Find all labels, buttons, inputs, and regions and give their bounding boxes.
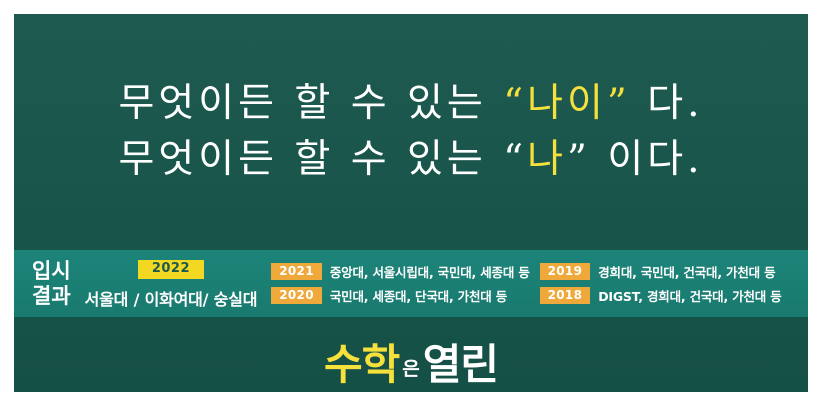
results-bar-label-line-2: 결과 (32, 284, 71, 309)
headline: 무엇이든 할 수 있는 “나이” 다. 무엇이든 할 수 있는 “나” 이다. (14, 76, 808, 188)
universities-2020: 국민대, 세종대, 단국대, 가천대 등 (330, 286, 507, 305)
results-column-right: 2019 경희대, 국민대, 건국대, 가천대 등 2018 DIGST, 경희… (540, 262, 782, 305)
result-row: 2021 중앙대, 서울시립대, 국민대, 세종대 등 (271, 262, 529, 281)
brand-logo-part-1: 수학 (324, 340, 399, 389)
headline-line-1-suffix: 다. (631, 81, 704, 126)
results-bar-label: 입시 결과 (32, 259, 71, 309)
year-badge-2020: 2020 (271, 287, 322, 304)
headline-line-1-quote-open: “ (503, 81, 527, 126)
headline-line-2-accent: 나 (527, 137, 567, 182)
headline-line-2-quote-open: “ (503, 137, 527, 182)
headline-line-2-suffix: 이다. (591, 137, 704, 182)
headline-line-1: 무엇이든 할 수 있는 “나이” 다. (14, 76, 808, 132)
universities-2018: DIGST, 경희대, 건국대, 가천대 등 (598, 286, 781, 305)
year-badge-2022: 2022 (138, 260, 204, 279)
year-badge-2018: 2018 (540, 287, 591, 304)
headline-line-1-prefix: 무엇이든 할 수 있는 (119, 81, 504, 126)
result-row: 2018 DIGST, 경희대, 건국대, 가천대 등 (540, 286, 782, 305)
headline-line-2-quote-close: ” (567, 137, 591, 182)
year-badge-2021: 2021 (271, 263, 322, 280)
admission-results-bar: 입시 결과 2022 서울대 / 이화여대/ 숭실대 2021 중앙대, 서울시… (14, 250, 808, 317)
year-badge-2019: 2019 (540, 263, 591, 280)
headline-line-1-quote-close: ” (607, 81, 631, 126)
results-column-left: 2021 중앙대, 서울시립대, 국민대, 세종대 등 2020 국민대, 세종… (271, 262, 529, 305)
brand-logo-part-3: 열린 (423, 340, 498, 389)
result-row: 2019 경희대, 국민대, 건국대, 가천대 등 (540, 262, 782, 281)
universities-2022: 서울대 / 이화여대/ 숭실대 (85, 286, 258, 310)
result-row: 2020 국민대, 세종대, 단국대, 가천대 등 (271, 286, 529, 305)
universities-2021: 중앙대, 서울시립대, 국민대, 세종대 등 (330, 262, 530, 281)
brand-logo-part-2: 은 (402, 358, 419, 380)
brand-logo: 수학은열린 (14, 331, 808, 392)
promo-banner: 무엇이든 할 수 있는 “나이” 다. 무엇이든 할 수 있는 “나” 이다. … (0, 0, 821, 407)
universities-2019: 경희대, 국민대, 건국대, 가천대 등 (598, 262, 775, 281)
featured-result-group: 2022 서울대 / 이화여대/ 숭실대 (85, 257, 258, 310)
headline-line-1-accent: 나이 (527, 81, 607, 126)
banner-panel: 무엇이든 할 수 있는 “나이” 다. 무엇이든 할 수 있는 “나” 이다. … (14, 14, 808, 392)
headline-line-2-prefix: 무엇이든 할 수 있는 (119, 137, 504, 182)
headline-line-2: 무엇이든 할 수 있는 “나” 이다. (14, 132, 808, 188)
results-bar-label-line-1: 입시 (32, 259, 71, 284)
